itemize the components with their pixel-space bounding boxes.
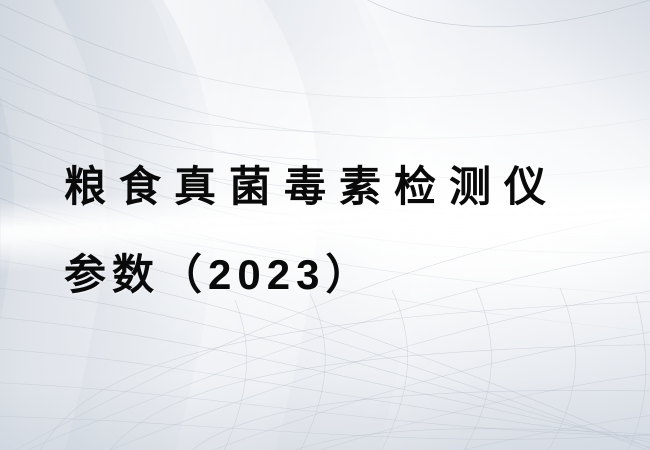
banner: 粮食真菌毒素检测仪 参数（2023） bbox=[0, 0, 650, 450]
banner-title: 粮食真菌毒素检测仪 参数（2023） bbox=[64, 143, 624, 319]
banner-title-line-2: 参数（2023） bbox=[64, 231, 624, 319]
banner-title-line-1: 粮食真菌毒素检测仪 bbox=[64, 143, 624, 231]
